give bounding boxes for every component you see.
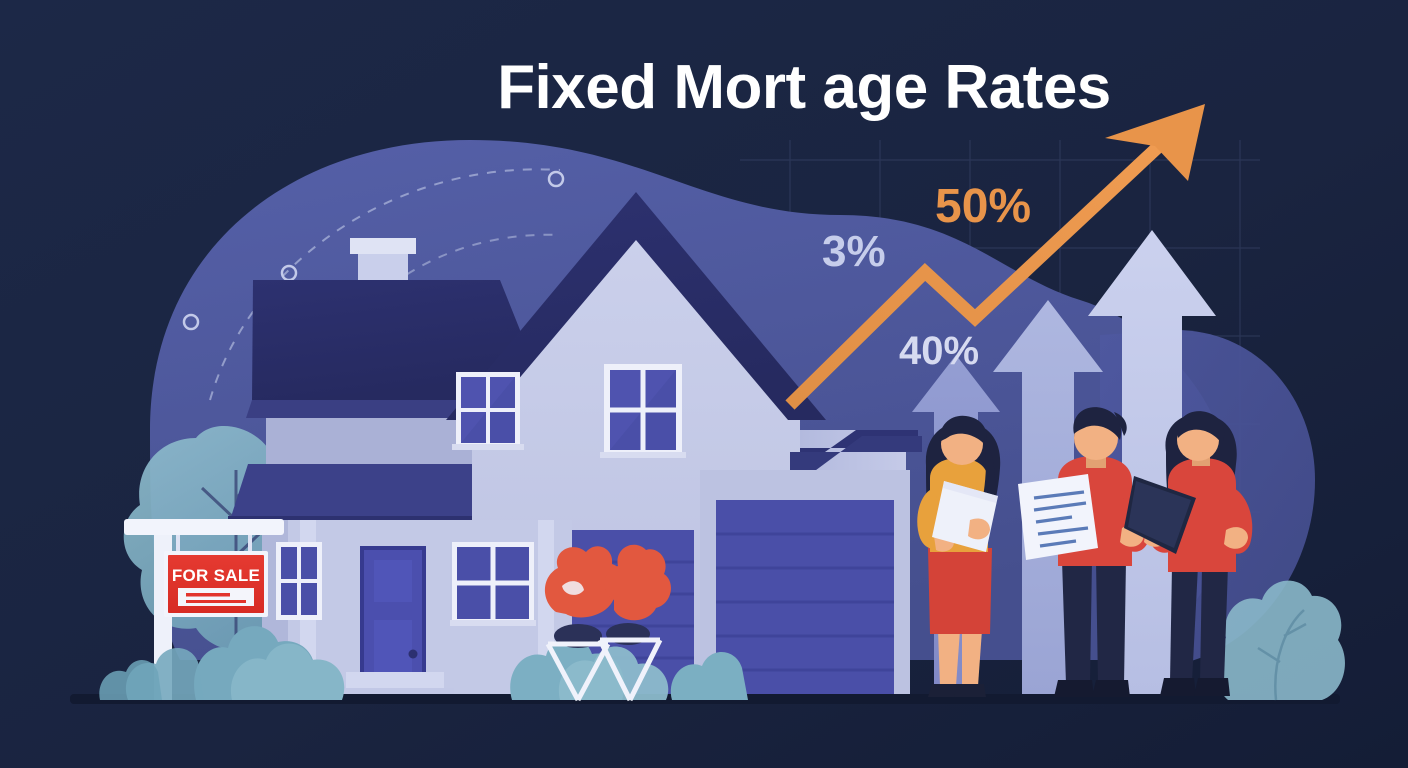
rate-label-mid: 40%	[899, 329, 979, 373]
text-layer: Fixed Mort age Rates 50% 3% 40%	[0, 0, 1408, 768]
illustration-canvas: FOR SALE	[0, 0, 1408, 768]
rate-label-high: 50%	[935, 180, 1031, 233]
page-title: Fixed Mort age Rates	[497, 53, 1111, 122]
rate-label-low: 3%	[822, 227, 886, 276]
